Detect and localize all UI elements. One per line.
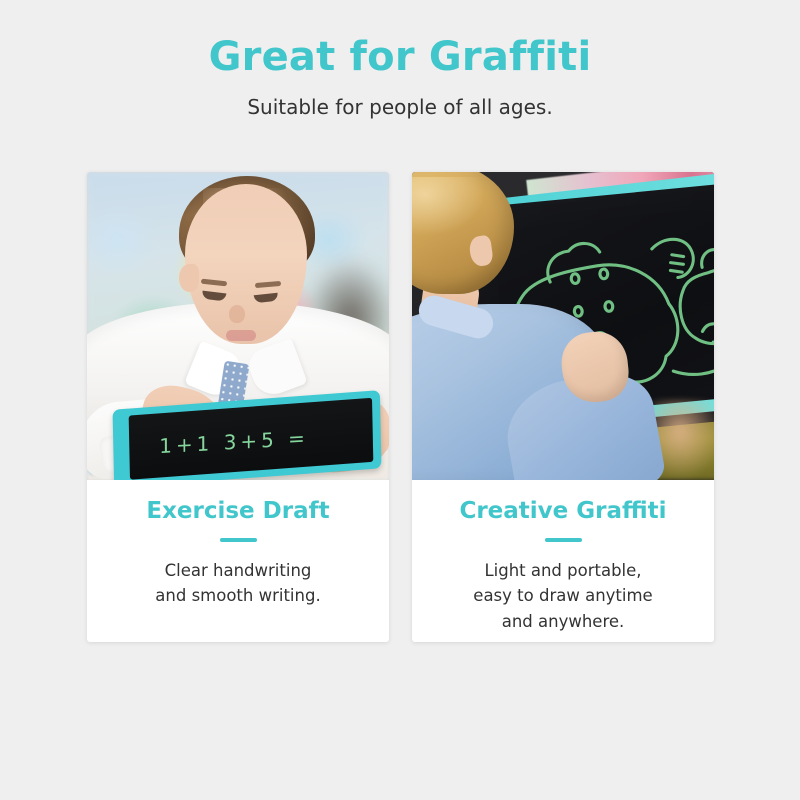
footer-whitespace xyxy=(0,650,800,800)
title-divider xyxy=(220,538,257,542)
feature-card-exercise-draft[interactable]: 1+1 3+5 = Exercise Draft Clear handwriti… xyxy=(87,172,389,642)
card-title: Creative Graffiti xyxy=(412,498,714,526)
photo-creative-graffiti xyxy=(412,172,714,480)
feature-card-creative-graffiti[interactable]: Creative Graffiti Light and portable, ea… xyxy=(412,172,714,642)
tablet-handwriting: 1+1 3+5 = xyxy=(159,426,309,458)
card-body-creative-graffiti: Creative Graffiti Light and portable, ea… xyxy=(412,480,714,642)
child-mouth xyxy=(226,330,256,341)
product-feature-page: Great for Graffiti Suitable for people o… xyxy=(0,0,800,800)
child-ear xyxy=(179,264,199,292)
photo-exercise-draft: 1+1 3+5 = xyxy=(87,172,389,480)
page-header: Great for Graffiti Suitable for people o… xyxy=(0,34,800,120)
card-body-exercise-draft: Exercise Draft Clear handwriting and smo… xyxy=(87,480,389,642)
card-title: Exercise Draft xyxy=(87,498,389,526)
page-subtitle: Suitable for people of all ages. xyxy=(0,94,800,120)
tablet-screen: 1+1 3+5 = xyxy=(129,398,374,480)
title-divider xyxy=(545,538,582,542)
card-description: Light and portable, easy to draw anytime… xyxy=(412,558,714,635)
card-description: Clear handwriting and smooth writing. xyxy=(87,558,389,609)
page-title: Great for Graffiti xyxy=(0,34,800,80)
child-head xyxy=(185,184,307,344)
feature-card-row: 1+1 3+5 = Exercise Draft Clear handwriti… xyxy=(87,172,714,642)
child-nose xyxy=(229,305,245,323)
